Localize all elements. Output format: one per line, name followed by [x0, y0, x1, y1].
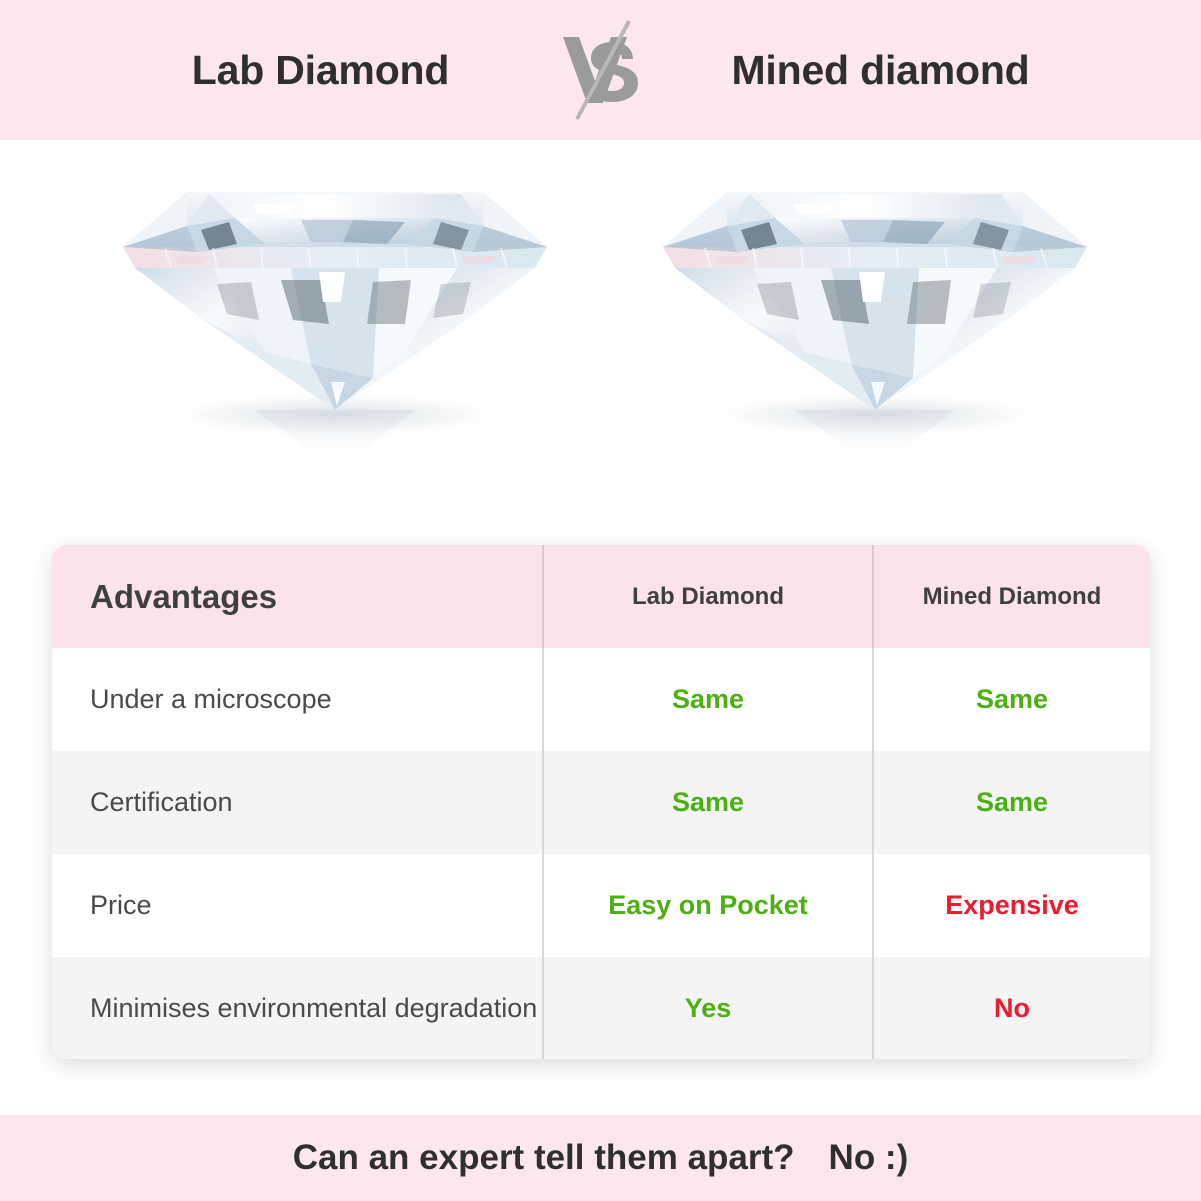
table-row: Minimises environmental degradation Yes … — [52, 957, 1150, 1059]
feature-label: Minimises environmental degradation — [90, 991, 537, 1026]
comparison-table-card: Advantages Lab Diamond Mined Diamond Und… — [52, 545, 1150, 1059]
row-mined-value-cell: Same — [872, 648, 1150, 751]
top-banner: Lab Diamond VS Mined diamond — [0, 0, 1201, 140]
lab-value: Same — [672, 787, 744, 818]
footer-answer: No :) — [829, 1138, 909, 1178]
column-header-lab-diamond: Lab Diamond — [632, 583, 784, 611]
row-mined-value-cell: Same — [872, 751, 1150, 854]
versus-icon: VS — [541, 15, 661, 125]
mined-value: Same — [976, 787, 1048, 818]
table-header-row: Advantages Lab Diamond Mined Diamond — [52, 545, 1150, 648]
row-mined-value-cell: No — [872, 957, 1150, 1059]
row-feature-cell: Price — [52, 854, 542, 957]
row-lab-value-cell: Same — [542, 751, 872, 854]
row-feature-cell: Certification — [52, 751, 542, 854]
lab-value: Easy on Pocket — [608, 890, 808, 921]
table-row: Under a microscope Same Same — [52, 648, 1150, 751]
column-header-mined-diamond: Mined Diamond — [923, 583, 1102, 611]
column-header-advantages: Advantages — [90, 578, 277, 616]
table-header-lab-cell: Lab Diamond — [542, 545, 872, 648]
header-left-title: Lab Diamond — [101, 47, 541, 94]
row-lab-value-cell: Easy on Pocket — [542, 854, 872, 957]
mined-value: Expensive — [945, 890, 1079, 921]
feature-label: Under a microscope — [90, 682, 332, 717]
row-feature-cell: Under a microscope — [52, 648, 542, 751]
lab-value: Same — [672, 684, 744, 715]
feature-label: Price — [90, 888, 152, 923]
table-header-mined-cell: Mined Diamond — [872, 545, 1150, 648]
mined-diamond-image — [645, 152, 1105, 482]
lab-value: Yes — [685, 993, 732, 1024]
table-row: Price Easy on Pocket Expensive — [52, 854, 1150, 957]
feature-label: Certification — [90, 785, 233, 820]
row-feature-cell: Minimises environmental degradation — [52, 957, 542, 1059]
footer-question: Can an expert tell them apart? — [293, 1138, 795, 1178]
row-mined-value-cell: Expensive — [872, 854, 1150, 957]
lab-diamond-image — [105, 152, 565, 482]
diamond-image-stage — [0, 140, 1201, 540]
table-header-feature-cell: Advantages — [52, 545, 542, 648]
mined-value: Same — [976, 684, 1048, 715]
footer-banner: Can an expert tell them apart? No :) — [0, 1115, 1201, 1201]
mined-value: No — [994, 993, 1030, 1024]
table-row: Certification Same Same — [52, 751, 1150, 854]
header-right-title: Mined diamond — [661, 47, 1101, 94]
row-lab-value-cell: Yes — [542, 957, 872, 1059]
row-lab-value-cell: Same — [542, 648, 872, 751]
